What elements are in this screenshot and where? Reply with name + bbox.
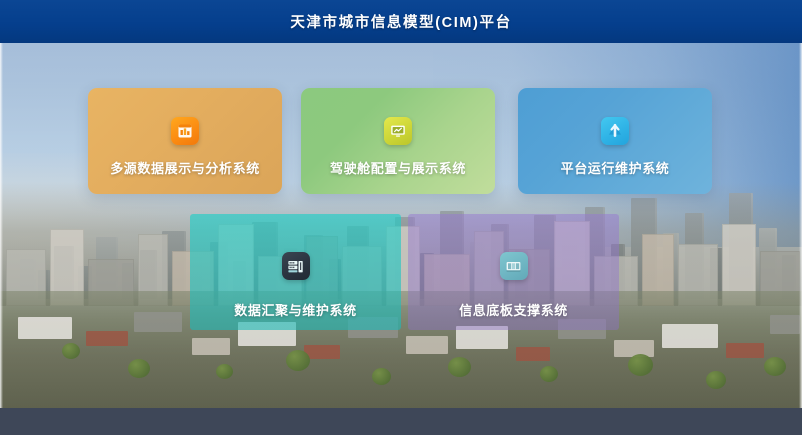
system-card-data-aggregation[interactable]: 数据汇聚与维护系统 xyxy=(190,214,401,330)
system-card-multisource-data[interactable]: 多源数据展示与分析系统 xyxy=(88,88,282,194)
system-card-cockpit-config[interactable]: 驾驶舱配置与展示系统 xyxy=(301,88,495,194)
page-header: 天津市城市信息模型(CIM)平台 xyxy=(0,0,802,43)
system-card-label: 平台运行维护系统 xyxy=(518,158,712,177)
base-map-icon xyxy=(500,252,528,280)
page-footer xyxy=(0,408,802,435)
server-rack-icon xyxy=(282,252,310,280)
foreground-lowrise-layer xyxy=(0,291,802,408)
monitor-icon xyxy=(384,117,412,145)
system-card-label: 数据汇聚与维护系统 xyxy=(190,300,401,319)
system-card-platform-ops[interactable]: 平台运行维护系统 xyxy=(518,88,712,194)
chart-icon xyxy=(171,117,199,145)
system-card-info-baseboard[interactable]: 信息底板支撑系统 xyxy=(408,214,619,330)
page-title: 天津市城市信息模型(CIM)平台 xyxy=(290,11,511,32)
system-card-label: 信息底板支撑系统 xyxy=(408,300,619,319)
midground-city-layer xyxy=(0,182,802,306)
cim-platform-page: 天津市城市信息模型(CIM)平台 xyxy=(0,0,802,435)
upload-cloud-icon xyxy=(601,117,629,145)
system-card-label: 驾驶舱配置与展示系统 xyxy=(301,158,495,177)
system-card-label: 多源数据展示与分析系统 xyxy=(88,158,282,177)
